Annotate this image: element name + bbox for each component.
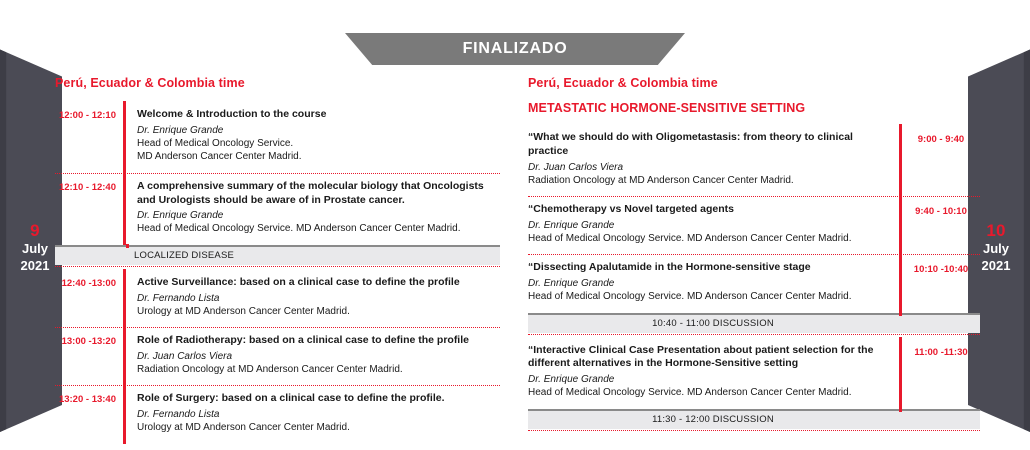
agenda-column-day2: Perú, Ecuador & Colombia time METASTATIC… — [528, 76, 980, 429]
session-body: Welcome & Introduction to the course Dr.… — [126, 101, 500, 173]
session-row: 12:40 -13:00 Active Surveillance: based … — [55, 265, 500, 327]
session-body: A comprehensive summary of the molecular… — [126, 173, 500, 245]
session-time: 13:00 -13:20 — [55, 327, 123, 385]
session-row: 12:00 - 12:10 Welcome & Introduction to … — [55, 101, 500, 173]
session-body: “Dissecting Apalutamide in the Hormone-s… — [528, 254, 899, 312]
session-row: 13:20 - 13:40 Role of Surgery: based on … — [55, 385, 500, 443]
session-time: 9:40 - 10:10 — [902, 196, 980, 254]
session-row: “Dissecting Apalutamide in the Hormone-s… — [528, 254, 980, 312]
session-speaker: Dr. Enrique Grande — [528, 277, 889, 290]
section-band-label: LOCALIZED DISEASE — [55, 250, 234, 261]
session-time: 12:40 -13:00 — [55, 269, 123, 327]
session-speaker: Dr. Fernando Lista — [137, 408, 500, 421]
discussion-band-label: 10:40 - 11:00 DISCUSSION — [528, 318, 980, 329]
date-day: 9 — [8, 220, 62, 241]
date-year: 2021 — [8, 258, 62, 274]
session-speaker: Dr. Enrique Grande — [528, 373, 889, 386]
red-divider-tick — [899, 312, 902, 316]
discussion-band-1: 10:40 - 11:00 DISCUSSION — [528, 313, 980, 333]
discussion-band-2: 11:30 - 12:00 DISCUSSION — [528, 409, 980, 429]
session-affiliation-2: MD Anderson Cancer Center Madrid. — [137, 150, 500, 163]
session-title: “What we should do with Oligometastasis:… — [528, 131, 889, 159]
session-body: “Chemotherapy vs Novel targeted agents D… — [528, 196, 899, 254]
date-ribbon-day1: 9 July 2021 — [0, 0, 62, 450]
session-title: A comprehensive summary of the molecular… — [137, 180, 500, 208]
session-body: “What we should do with Oligometastasis:… — [528, 124, 899, 196]
session-row: “Interactive Clinical Case Presentation … — [528, 333, 980, 409]
session-affiliation: Radiation Oncology at MD Anderson Cancer… — [137, 363, 500, 376]
section-header-metastatic: METASTATIC HORMONE-SENSITIVE SETTING — [528, 101, 980, 115]
timezone-header-day2: Perú, Ecuador & Colombia time — [528, 76, 980, 90]
session-affiliation: Radiation Oncology at MD Anderson Cancer… — [528, 174, 889, 187]
session-time: 9:00 - 9:40 — [902, 124, 980, 196]
session-time: 12:10 - 12:40 — [55, 173, 123, 245]
session-affiliation: Urology at MD Anderson Cancer Center Mad… — [137, 421, 500, 434]
session-affiliation: Head of Medical Oncology Service. — [137, 137, 500, 150]
session-body: “Interactive Clinical Case Presentation … — [528, 337, 899, 409]
session-title: “Chemotherapy vs Novel targeted agents — [528, 203, 889, 217]
session-title: “Interactive Clinical Case Presentation … — [528, 344, 889, 372]
session-speaker: Dr. Enrique Grande — [528, 219, 889, 232]
session-title: Role of Radiotherapy: based on a clinica… — [137, 334, 500, 348]
timezone-header-day1: Perú, Ecuador & Colombia time — [55, 76, 500, 90]
agenda-page: 9 July 2021 10 July 2021 FINALIZADO Perú… — [0, 0, 1030, 450]
session-affiliation: Head of Medical Oncology Service. MD And… — [528, 386, 889, 399]
session-title: Active Surveillance: based on a clinical… — [137, 276, 500, 290]
agenda-column-day1: Perú, Ecuador & Colombia time 12:00 - 12… — [55, 76, 500, 444]
session-speaker: Dr. Enrique Grande — [137, 124, 500, 137]
session-speaker: Dr. Fernando Lista — [137, 292, 500, 305]
session-row: “Chemotherapy vs Novel targeted agents D… — [528, 196, 980, 254]
session-body: Active Surveillance: based on a clinical… — [126, 269, 500, 327]
session-affiliation: Head of Medical Oncology Service. MD And… — [528, 290, 889, 303]
session-body: Role of Radiotherapy: based on a clinica… — [126, 327, 500, 385]
session-body: Role of Surgery: based on a clinical cas… — [126, 385, 500, 443]
session-row: 12:10 - 12:40 A comprehensive summary of… — [55, 173, 500, 245]
session-title: Welcome & Introduction to the course — [137, 108, 500, 122]
session-time: 12:00 - 12:10 — [55, 101, 123, 173]
red-divider-tick — [126, 244, 129, 248]
session-row: 13:00 -13:20 Role of Radiotherapy: based… — [55, 327, 500, 385]
session-affiliation: Urology at MD Anderson Cancer Center Mad… — [137, 305, 500, 318]
section-band-localized-disease: LOCALIZED DISEASE — [55, 245, 500, 265]
session-speaker: Dr. Juan Carlos Viera — [528, 161, 889, 174]
session-title: “Dissecting Apalutamide in the Hormone-s… — [528, 261, 889, 275]
date-month: July — [8, 241, 62, 257]
session-row: “What we should do with Oligometastasis:… — [528, 124, 980, 196]
session-title: Role of Surgery: based on a clinical cas… — [137, 392, 500, 406]
session-speaker: Dr. Enrique Grande — [137, 209, 500, 222]
status-badge: FINALIZADO — [463, 40, 568, 58]
session-time: 10:10 -10:40 — [902, 254, 980, 312]
session-time: 11:00 -11:30 — [902, 337, 980, 409]
date-block-day1: 9 July 2021 — [0, 220, 62, 274]
session-affiliation: Head of Medical Oncology Service. MD And… — [137, 222, 500, 235]
discussion-band-label: 11:30 - 12:00 DISCUSSION — [528, 414, 980, 425]
red-divider-tick — [899, 408, 902, 412]
session-time: 13:20 - 13:40 — [55, 385, 123, 443]
session-affiliation: Head of Medical Oncology Service. MD And… — [528, 232, 889, 245]
session-speaker: Dr. Juan Carlos Viera — [137, 350, 500, 363]
status-banner: FINALIZADO — [345, 33, 685, 65]
